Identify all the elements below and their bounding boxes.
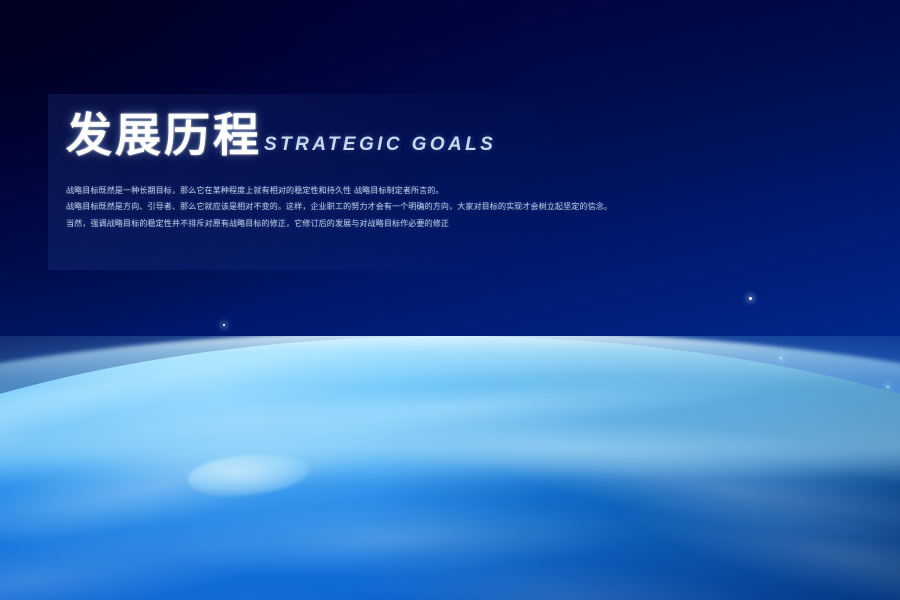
body-copy: 战略目标既然是一种长期目标，那么它在某种程度上就有相对的稳定性和持久性 战略目标… <box>66 185 536 234</box>
body-paragraph: 当然，强调战略目标的稳定性并不排斥对原有战略目标的修正，它修订后的发展与对战略目… <box>66 218 536 229</box>
page-title: 发展历程 <box>66 112 262 158</box>
body-paragraph: 战略目标既然是方向、引导者、那么它就应该是相对不变的。这样，企业职工的努力才会有… <box>66 201 536 212</box>
earth-globe <box>0 336 900 600</box>
earth-sphere <box>0 336 900 600</box>
earth-limb-halo <box>0 336 900 485</box>
body-paragraph: 战略目标既然是一种长期目标，那么它在某种程度上就有相对的稳定性和持久性 战略目标… <box>66 185 536 196</box>
page-subtitle: STRATEGIC GOALS <box>264 134 496 156</box>
promo-banner: 发展历程 STRATEGIC GOALS 战略目标既然是一种长期目标，那么它在某… <box>0 0 900 600</box>
star-b-icon <box>223 324 225 326</box>
star-c-icon <box>749 297 752 300</box>
headline-group: 发展历程 STRATEGIC GOALS <box>66 112 496 158</box>
